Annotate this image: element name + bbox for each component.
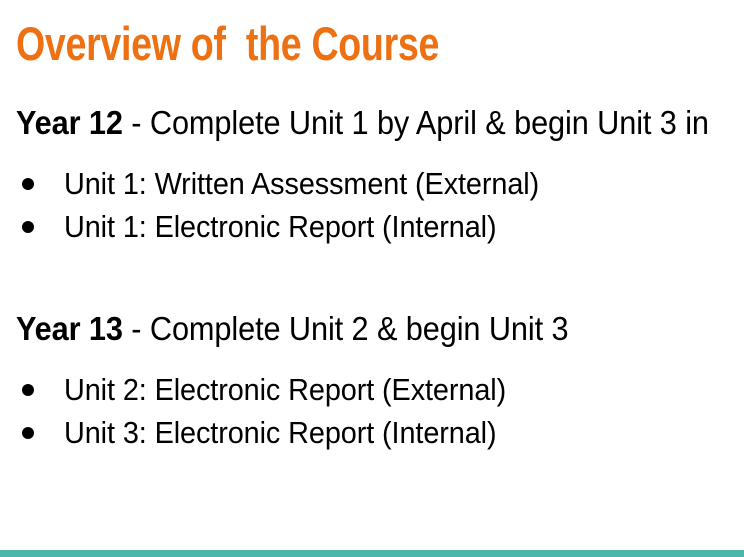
list-item: Unit 2: Electronic Report (External) [0,368,539,411]
section-heading-label-year-12: Year 12 [16,104,123,141]
bullet-dot-icon [22,178,34,190]
section-heading-year-12: Year 12 - Complete Unit 1 by April & beg… [16,104,709,142]
slide-canvas: Overview of the Course Year 12 - Complet… [0,0,744,557]
section-heading-detail-year-12: - Complete Unit 1 by April & begin Unit … [123,104,709,141]
bottom-accent-bar [0,550,744,557]
bullet-list-year-12: Unit 1: Written Assessment (External) Un… [0,162,575,248]
section-heading-detail-year-13: - Complete Unit 2 & begin Unit 3 [123,310,569,347]
bullet-list-year-13: Unit 2: Electronic Report (External) Uni… [0,368,539,454]
section-heading-year-13: Year 13 - Complete Unit 2 & begin Unit 3 [16,310,568,348]
list-item: Unit 3: Electronic Report (Internal) [0,411,539,454]
list-item-label: Unit 3: Electronic Report (Internal) [64,411,496,454]
page-title: Overview of the Course [16,18,586,70]
list-item-label: Unit 1: Electronic Report (Internal) [64,205,496,248]
section-heading-label-year-13: Year 13 [16,310,123,347]
bullet-dot-icon [22,221,34,233]
list-item: Unit 1: Written Assessment (External) [0,162,575,205]
bullet-dot-icon [22,384,34,396]
list-item-label: Unit 1: Written Assessment (External) [64,162,539,205]
list-item: Unit 1: Electronic Report (Internal) [0,205,575,248]
list-item-label: Unit 2: Electronic Report (External) [64,368,506,411]
bullet-dot-icon [22,427,34,439]
